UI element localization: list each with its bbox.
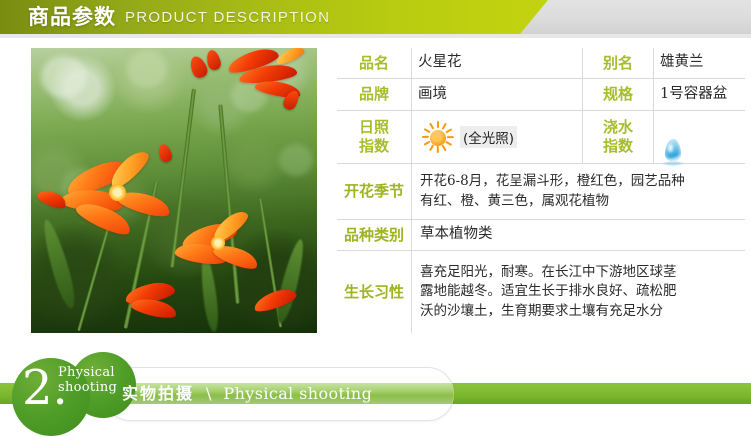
section-title: 实物拍摄 \ Physical shooting [122, 385, 372, 403]
sunlight-label: (全光照) [460, 126, 517, 148]
section-banner: 2. Physical shooting 实物拍摄 \ Physical sho… [0, 352, 751, 435]
spec-value-watering [654, 110, 746, 163]
spec-label-watering-index: 浇水 指数 [583, 110, 654, 163]
page-header: 商品参数 PRODUCT DESCRIPTION [0, 0, 751, 38]
product-spec-table: 品名 火星花 别名 雄黄兰 品牌 画境 规格 1号容器盆 日照 指数 [337, 48, 745, 333]
product-photo [31, 48, 317, 333]
table-row: 日照 指数 [337, 110, 745, 163]
spec-value-growth-habit: 喜充足阳光，耐寒。在长江中下游地区球茎 露地能越冬。适宜生长于排水良好、疏松肥 … [412, 251, 746, 333]
sunlight-cell: (全光照) [412, 119, 582, 155]
flower-center [211, 236, 225, 250]
table-row: 品牌 画境 规格 1号容器盆 [337, 79, 745, 111]
header-content: 商品参数 PRODUCT DESCRIPTION [0, 0, 751, 34]
spec-label-growth-habit: 生长习性 [337, 251, 412, 333]
section-title-separator: \ [206, 386, 211, 402]
spec-value-bieming: 雄黄兰 [654, 48, 746, 79]
spec-value-pinming: 火星花 [412, 48, 583, 79]
bokeh-highlight [279, 144, 313, 176]
page-title-en: PRODUCT DESCRIPTION [125, 10, 330, 25]
table-row: 生长习性 喜充足阳光，耐寒。在长江中下游地区球茎 露地能越冬。适宜生长于排水良好… [337, 251, 745, 333]
badge-line-2: shooting [58, 381, 117, 396]
spec-label-pinming: 品名 [337, 48, 412, 79]
table-row: 开花季节 开花6-8月，花呈漏斗形，橙红色，园艺品种 有红、橙、黄三色，属观花植… [337, 164, 745, 220]
spec-value-guige: 1号容器盆 [654, 79, 746, 111]
spec-value-pinpai: 画境 [412, 79, 583, 111]
section-title-en: Physical shooting [223, 386, 372, 402]
bokeh-highlight [127, 50, 167, 88]
spec-table: 品名 火星花 别名 雄黄兰 品牌 画境 规格 1号容器盆 日照 指数 [337, 48, 745, 333]
spec-value-variety-type: 草本植物类 [412, 219, 746, 251]
spec-value-bloom-season: 开花6-8月，花呈漏斗形，橙红色，园艺品种 有红、橙、黄三色，属观花植物 [412, 164, 746, 220]
spec-value-sunlight: (全光照) [412, 110, 583, 163]
table-row: 品种类别 草本植物类 [337, 219, 745, 251]
spec-label-sunlight-index: 日照 指数 [337, 110, 412, 163]
section-badge-text: Physical shooting [58, 366, 117, 395]
table-row: 品名 火星花 别名 雄黄兰 [337, 48, 745, 79]
spec-label-guige: 规格 [583, 79, 654, 111]
page-title-cn: 商品参数 [28, 7, 116, 28]
bokeh-highlight [41, 56, 87, 98]
header-underline [0, 34, 751, 38]
spec-label-pinpai: 品牌 [337, 79, 412, 111]
badge-line-1: Physical [58, 366, 117, 381]
spec-label-variety-type: 品种类别 [337, 219, 412, 251]
flower-center [109, 184, 126, 201]
sun-icon [418, 119, 458, 155]
spec-label-bloom-season: 开花季节 [337, 164, 412, 220]
section-title-cn: 实物拍摄 [122, 386, 194, 402]
spec-label-bieming: 别名 [583, 48, 654, 79]
